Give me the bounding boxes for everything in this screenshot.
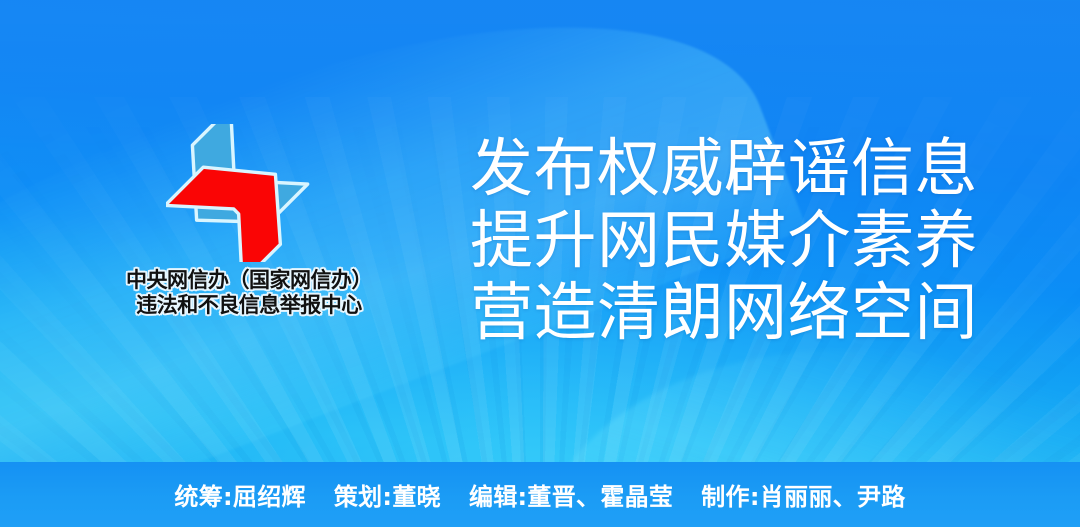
slogan-line-1: 发布权威辟谣信息 (470, 133, 970, 205)
credit-planner: 策划:董晓 (334, 477, 441, 512)
credits-bar: 统筹:屈绍辉 策划:董晓 编辑:董晋、霍晶莹 制作:肖丽丽、尹路 (0, 462, 1080, 527)
slogan-line-3: 营造清朗网络空间 (470, 277, 970, 349)
logo-caption-line-2: 违法和不良信息举报中心 (104, 293, 394, 318)
credit-producer: 统筹:屈绍辉 (174, 477, 305, 512)
logo-caption-line-1: 中央网信办（国家网信办） (104, 268, 394, 293)
slogan-block: 发布权威辟谣信息 提升网民媒介素养 营造清朗网络空间 (470, 133, 970, 349)
credits-list: 统筹:屈绍辉 策划:董晓 编辑:董晋、霍晶莹 制作:肖丽丽、尹路 (174, 477, 905, 512)
logo-caption: 中央网信办（国家网信办） 违法和不良信息举报中心 (104, 268, 394, 318)
slogan-line-2: 提升网民媒介素养 (470, 205, 970, 277)
credit-production: 制作:肖丽丽、尹路 (701, 477, 905, 512)
rumor-refutation-banner: 中央网信办（国家网信办） 违法和不良信息举报中心 发布权威辟谣信息 提升网民媒介… (0, 0, 1080, 527)
credit-editor: 编辑:董晋、霍晶莹 (469, 477, 673, 512)
logo-block: 中央网信办（国家网信办） 违法和不良信息举报中心 (104, 124, 394, 334)
report-center-logo-icon (166, 124, 334, 262)
